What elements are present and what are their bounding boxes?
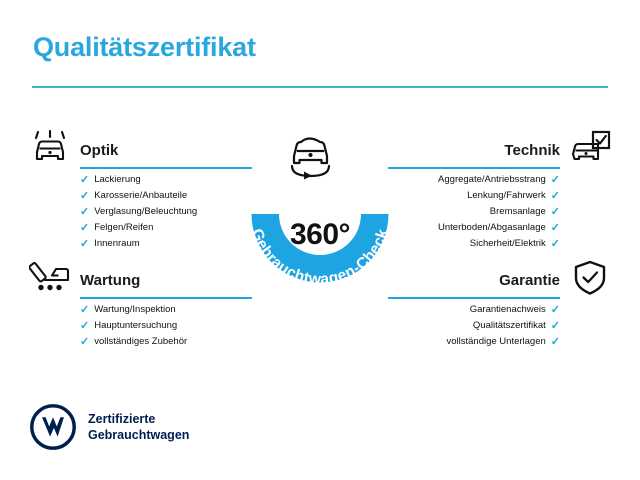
list-item: ✓vollständiges Zubehör: [80, 334, 252, 350]
footer-line-1: Zertifizierte: [88, 412, 155, 426]
checklist-optik: ✓Lackierung ✓Karosserie/Anbauteile ✓Verg…: [22, 172, 252, 252]
section-header: Optik: [22, 128, 252, 172]
list-item-label: Qualitätszertifikat: [473, 318, 546, 334]
list-item: ✓Garantienachweis: [388, 302, 560, 318]
list-item-label: Verglasung/Beleuchtung: [94, 204, 197, 220]
section-title: Optik: [80, 142, 118, 159]
list-item-label: Felgen/Reifen: [94, 220, 153, 236]
section-title: Garantie: [499, 272, 560, 289]
footer-text: Zertifizierte Gebrauchtwagen: [88, 411, 189, 443]
check-icon: ✓: [551, 207, 560, 218]
list-item-label: Wartung/Inspektion: [94, 302, 176, 318]
section-garantie: Garantie ✓Garantienachweis ✓Qualitätszer…: [388, 258, 618, 350]
section-divider: [388, 297, 560, 299]
list-item-label: Hauptuntersuchung: [94, 318, 177, 334]
check-icon: ✓: [551, 223, 560, 234]
list-item-label: Aggregate/Antriebsstrang: [438, 172, 546, 188]
wrench-car-icon: [25, 258, 75, 298]
section-header: Wartung: [22, 258, 252, 302]
list-item: ✓vollständige Unterlagen: [388, 334, 560, 350]
check-icon: ✓: [80, 223, 89, 234]
check-icon: ✓: [80, 337, 89, 348]
list-item-label: Unterboden/Abgasanlage: [438, 220, 546, 236]
list-item: ✓Verglasung/Beleuchtung: [80, 204, 252, 220]
list-item: ✓Sicherheit/Elektrik: [388, 236, 560, 252]
check-icon: ✓: [551, 239, 560, 250]
section-wartung: Wartung ✓Wartung/Inspektion ✓Hauptunters…: [22, 258, 252, 350]
list-item-label: Innenraum: [94, 236, 139, 252]
title-divider: [32, 86, 608, 88]
section-header: Technik: [388, 128, 618, 172]
check-icon: ✓: [80, 321, 89, 332]
list-item-label: Lackierung: [94, 172, 140, 188]
list-item-label: Lenkung/Fahrwerk: [467, 188, 546, 204]
list-item: ✓Lenkung/Fahrwerk: [388, 188, 560, 204]
list-item: ✓Felgen/Reifen: [80, 220, 252, 236]
checklist-wartung: ✓Wartung/Inspektion ✓Hauptuntersuchung ✓…: [22, 302, 252, 350]
check-icon: ✓: [551, 191, 560, 202]
check-icon: ✓: [80, 175, 89, 186]
check-icon: ✓: [551, 321, 560, 332]
check-icon: ✓: [80, 239, 89, 250]
section-optik: Optik ✓Lackierung ✓Karosserie/Anbauteile…: [22, 128, 252, 252]
footer-branding: Zertifizierte Gebrauchtwagen: [30, 404, 189, 450]
section-technik: Technik ✓Aggregate/Antriebsstrang ✓Lenku…: [388, 128, 618, 252]
vw-logo-icon: [30, 404, 76, 450]
check-icon: ✓: [80, 191, 89, 202]
list-item: ✓Bremsanlage: [388, 204, 560, 220]
list-item-label: Sicherheit/Elektrik: [470, 236, 546, 252]
section-divider: [80, 167, 252, 169]
car-checkbox-icon: [565, 128, 615, 168]
list-item-label: Karosserie/Anbauteile: [94, 188, 187, 204]
list-item: ✓Karosserie/Anbauteile: [80, 188, 252, 204]
list-item-label: Garantienachweis: [470, 302, 546, 318]
list-item: ✓Innenraum: [80, 236, 252, 252]
list-item: ✓Hauptuntersuchung: [80, 318, 252, 334]
check-icon: ✓: [551, 305, 560, 316]
checklist-technik: ✓Aggregate/Antriebsstrang ✓Lenkung/Fahrw…: [388, 172, 618, 252]
checklist-garantie: ✓Garantienachweis ✓Qualitätszertifikat ✓…: [388, 302, 618, 350]
section-divider: [388, 167, 560, 169]
section-title: Wartung: [80, 272, 140, 289]
footer-line-2: Gebrauchtwagen: [88, 428, 189, 442]
list-item-label: Bremsanlage: [490, 204, 546, 220]
list-item: ✓Lackierung: [80, 172, 252, 188]
list-item: ✓Qualitätszertifikat: [388, 318, 560, 334]
badge-center-label: 360°: [228, 218, 412, 252]
list-item-label: vollständige Unterlagen: [446, 334, 545, 350]
car-shine-icon: [25, 128, 75, 168]
badge-360-gebrauchtwagen-check: Gebrauchtwagen-Check 360°: [228, 122, 412, 306]
section-title: Technik: [504, 142, 560, 159]
check-icon: ✓: [80, 207, 89, 218]
shield-check-icon: [565, 258, 615, 298]
section-divider: [80, 297, 252, 299]
certificate-page: Qualitätszertifikat Optik ✓Lac: [0, 0, 640, 480]
page-title: Qualitätszertifikat: [33, 32, 256, 63]
list-item: ✓Aggregate/Antriebsstrang: [388, 172, 560, 188]
list-item: ✓Wartung/Inspektion: [80, 302, 252, 318]
section-header: Garantie: [388, 258, 618, 302]
list-item: ✓Unterboden/Abgasanlage: [388, 220, 560, 236]
check-icon: ✓: [80, 305, 89, 316]
list-item-label: vollständiges Zubehör: [94, 334, 187, 350]
check-icon: ✓: [551, 337, 560, 348]
check-icon: ✓: [551, 175, 560, 186]
